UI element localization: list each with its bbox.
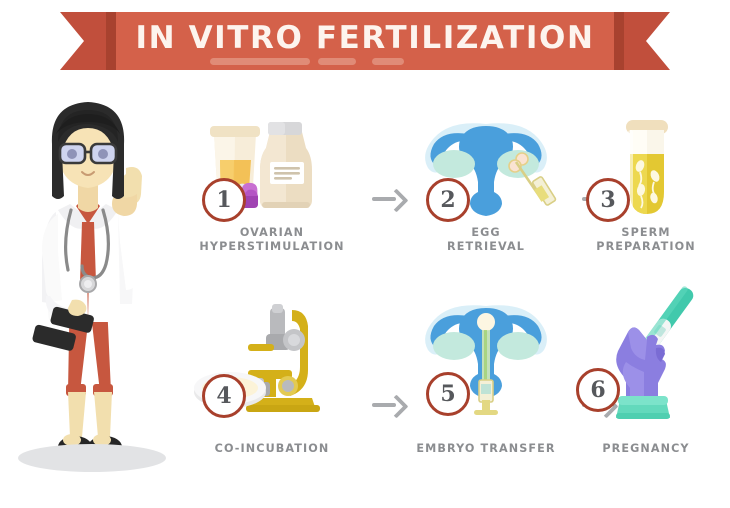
doctor-illustration (8, 92, 188, 492)
step-caption-2-line2: RETRIEVAL (410, 240, 562, 254)
arrow-head (384, 394, 408, 418)
step-caption-5-line1: EMBRYO TRANSFER (410, 442, 562, 456)
doctor-neck (78, 184, 98, 212)
arrow-step1-to-step2 (372, 188, 406, 210)
step-caption-3-line1: SPERM (570, 226, 722, 240)
step-number-3: 3 (586, 178, 630, 222)
step-number-6: 6 (576, 368, 620, 412)
step-caption-1: OVARIAN HYPERSTIMULATION (196, 226, 348, 253)
title-ribbon: IN VITRO FERTILIZATION (60, 12, 670, 70)
step-caption-6-line1: PREGNANCY (570, 442, 722, 456)
step-number-5: 5 (426, 372, 470, 416)
ribbon-right-notch (614, 12, 624, 70)
step-caption-1-line2: HYPERSTIMULATION (196, 240, 348, 254)
step-4[interactable]: 4 CO-INCUBATION (196, 300, 348, 456)
doctor-head (52, 102, 124, 199)
ribbon-left-notch (106, 12, 116, 70)
doctor-floor-shadow (18, 444, 166, 472)
step-caption-3: SPERM PREPARATION (570, 226, 722, 253)
step-5[interactable]: 5 EMBRYO TRANSFER (410, 300, 562, 456)
step-caption-4-line1: CO-INCUBATION (196, 442, 348, 456)
arrow-head (384, 188, 408, 212)
step-caption-6: PREGNANCY (570, 442, 722, 456)
infographic-canvas: IN VITRO FERTILIZATION (0, 0, 730, 508)
step-caption-4: CO-INCUBATION (196, 442, 348, 456)
step-caption-1-line1: OVARIAN (196, 226, 348, 240)
step-caption-3-line2: PREPARATION (570, 240, 722, 254)
step-caption-5: EMBRYO TRANSFER (410, 442, 562, 456)
step-6[interactable]: 6 PREGNANCY (570, 300, 722, 456)
step-number-1: 1 (202, 178, 246, 222)
steps-grid: 1 OVARIAN HYPERSTIMULATION (196, 104, 722, 504)
page-title: IN VITRO FERTILIZATION (116, 12, 614, 70)
ribbon-left-tail (60, 12, 106, 70)
step-number-4: 4 (202, 374, 246, 418)
step-1[interactable]: 1 OVARIAN HYPERSTIMULATION (196, 104, 348, 253)
step-2[interactable]: 2 EGG RETRIEVAL (410, 104, 562, 253)
arrow-step4-to-step5 (372, 394, 406, 416)
step-caption-2-line1: EGG (410, 226, 562, 240)
step-caption-2: EGG RETRIEVAL (410, 226, 562, 253)
step-3[interactable]: 3 SPERM PREPARATION (570, 104, 722, 253)
step-number-2: 2 (426, 178, 470, 222)
ribbon-right-tail (624, 12, 670, 70)
